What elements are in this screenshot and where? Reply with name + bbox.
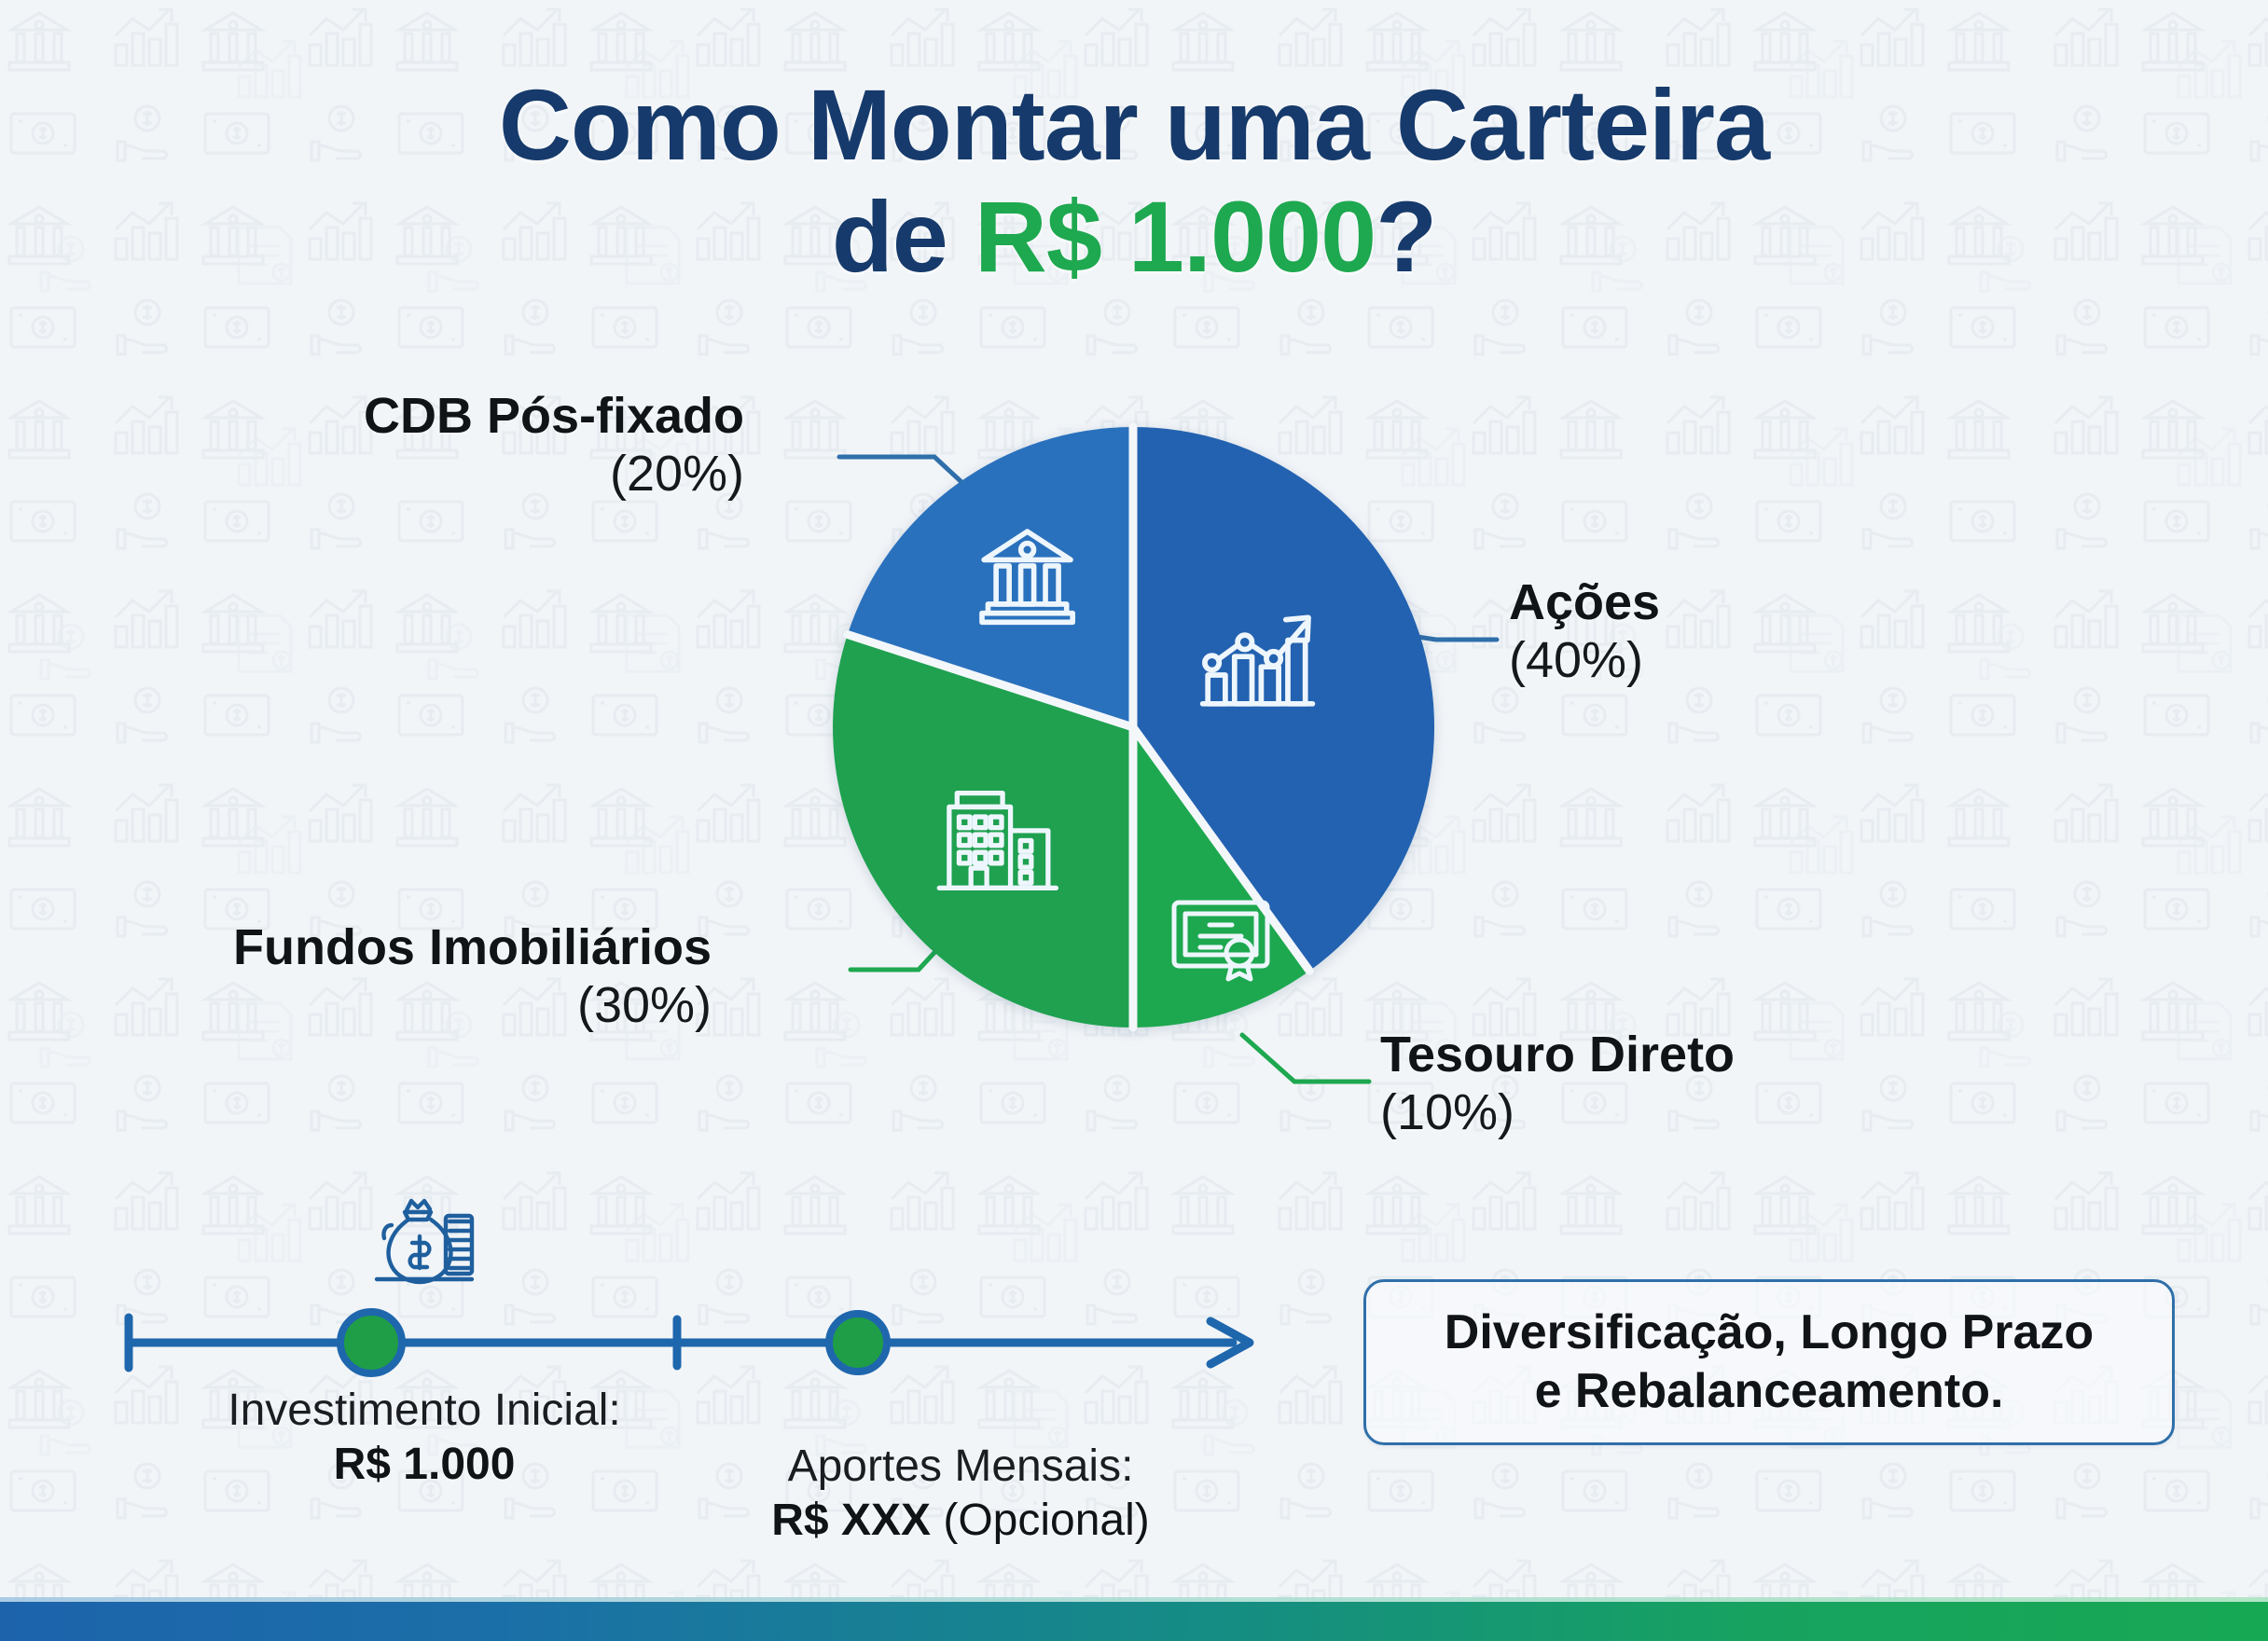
portfolio-pie-chart <box>816 410 1450 1044</box>
timeline-monthly-value: R$ XXX (Opcional) <box>671 1494 1250 1548</box>
callout-cdb-label: CDB Pós-fixado <box>364 387 744 445</box>
title-amount: R$ 1.000 <box>975 180 1376 293</box>
timeline-label-initial: Investimento Inicial: R$ 1.000 <box>135 1385 713 1491</box>
timeline-marker-monthly[interactable] <box>829 1314 887 1372</box>
advice-line-1: Diversificação, Longo Prazo <box>1445 1303 2094 1362</box>
callout-cdb-percent: (20%) <box>364 445 744 503</box>
advice-line-2: e Rebalanceamento. <box>1535 1362 2004 1421</box>
callout-acoes-label: Ações <box>1509 573 1660 631</box>
timeline-initial-value: R$ 1.000 <box>135 1438 713 1492</box>
callout-tesouro-direto: Tesouro Direto (10%) <box>1380 1026 1735 1141</box>
callout-acoes-percent: (40%) <box>1509 631 1660 689</box>
callout-fii-label: Fundos Imobiliários <box>233 918 712 976</box>
title-line-1: Como Montar uma Carteira <box>0 73 2268 177</box>
callout-cdb-pos-fixado: CDB Pós-fixado (20%) <box>364 387 744 503</box>
callout-tesouro-label: Tesouro Direto <box>1380 1026 1735 1083</box>
investment-timeline: Investimento Inicial: R$ 1.000 Aportes M… <box>0 1184 1334 1538</box>
money-bag-icon <box>373 1193 476 1296</box>
timeline-monthly-amount: R$ XXX <box>771 1496 931 1545</box>
timeline-marker-initial[interactable] <box>340 1312 402 1373</box>
timeline-monthly-caption: Aportes Mensais: <box>671 1441 1250 1494</box>
callout-tesouro-percent: (10%) <box>1380 1083 1735 1141</box>
page-title: Como Montar uma Carteira de R$ 1.000? <box>0 73 2268 290</box>
title-suffix: ? <box>1376 180 1436 293</box>
timeline-label-monthly: Aportes Mensais: R$ XXX (Opcional) <box>671 1441 1250 1547</box>
title-line-2: de R$ 1.000? <box>0 185 2268 289</box>
callout-acoes: Ações (40%) <box>1509 573 1660 689</box>
bottom-accent-bar <box>0 1602 2268 1641</box>
advice-callout-box: Diversificação, Longo Prazo e Rebalancea… <box>1363 1279 2175 1445</box>
timeline-axis <box>121 1301 1296 1385</box>
title-prefix: de <box>832 180 975 293</box>
timeline-monthly-optional-note: (Opcional) <box>931 1496 1150 1545</box>
timeline-initial-caption: Investimento Inicial: <box>135 1385 713 1438</box>
callout-fundos-imobiliarios: Fundos Imobiliários (30%) <box>233 918 712 1034</box>
callout-fii-percent: (30%) <box>233 976 712 1034</box>
